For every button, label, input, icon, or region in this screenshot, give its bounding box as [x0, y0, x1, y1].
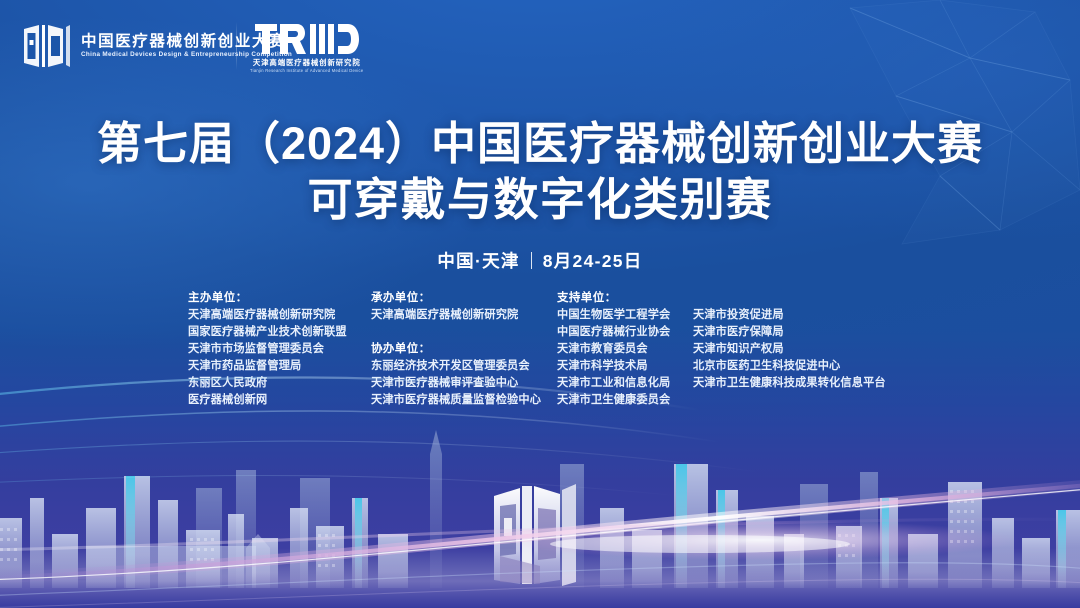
poster-title-line2: 可穿戴与数字化类别赛: [0, 174, 1080, 226]
org-item: 天津市知识产权局: [693, 341, 893, 358]
org-item: 天津市卫生健康委员会: [557, 392, 693, 409]
poster-header: 中国医疗器械创新创业大赛 China Medical Devices Desig…: [0, 0, 1080, 92]
org-item: 天津高端医疗器械创新研究院: [188, 307, 371, 324]
org-item: 天津市工业和信息化局: [557, 375, 693, 392]
organizers-column-support-continued: 天津市投资促进局 天津市医疗保障局 天津市知识产权局 北京市医药卫生科技促进中心…: [693, 290, 893, 392]
org-item: 北京市医药卫生科技促进中心: [693, 358, 893, 375]
trmd-wordmark-icon: [255, 22, 359, 56]
subtitle-date: 8月24-25日: [543, 248, 643, 273]
org-item: 天津市卫生健康科技成果转化信息平台: [693, 375, 893, 392]
org-item: 天津市药品监督管理局: [188, 358, 371, 375]
org-item: 医疗器械创新网: [188, 392, 371, 409]
cmde-logo: 中国医疗器械创新创业大赛 China Medical Devices Desig…: [22, 24, 288, 68]
org-item: 天津市医疗器械审评查验中心: [371, 375, 557, 392]
org-heading-coorganizer: 协办单位：: [371, 341, 557, 358]
org-item: 中国医疗器械行业协会: [557, 324, 693, 341]
org-heading-organizer: 承办单位：: [371, 290, 557, 307]
org-item: 天津市医疗保障局: [693, 324, 893, 341]
event-poster: 中国医疗器械创新创业大赛 China Medical Devices Desig…: [0, 0, 1080, 608]
org-item: 天津高端医疗器械创新研究院: [371, 307, 557, 324]
org-item: 天津市市场监督管理委员会: [188, 341, 371, 358]
trmd-logo-en: Tianjin Research Institute of Advanced M…: [250, 69, 363, 73]
org-item: 东丽经济技术开发区管理委员会: [371, 358, 557, 375]
org-heading-host: 主办单位：: [188, 290, 371, 307]
organizers-column-organizer: 承办单位： 天津高端医疗器械创新研究院 协办单位： 东丽经济技术开发区管理委员会…: [371, 290, 557, 409]
title-block: 第七届（2024）中国医疗器械创新创业大赛 可穿戴与数字化类别赛 中国·天津 8…: [0, 118, 1080, 273]
subtitle-line: 中国·天津 8月24-25日: [0, 248, 1080, 273]
logo-divider: [236, 22, 237, 70]
org-item: 国家医疗器械产业技术创新联盟: [188, 324, 371, 341]
org-item: 天津市教育委员会: [557, 341, 693, 358]
org-item: 天津市投资促进局: [693, 307, 893, 324]
subtitle-location: 中国·天津: [437, 248, 519, 273]
trmd-logo-cn: 天津高端医疗器械创新研究院: [253, 59, 361, 66]
trmd-logo: 天津高端医疗器械创新研究院 Tianjin Research Institute…: [250, 22, 363, 74]
subtitle-separator: [531, 252, 532, 269]
org-item: 东丽区人民政府: [188, 375, 371, 392]
open-door-logo-icon: [22, 24, 72, 68]
org-item: 天津市医疗器械质量监督检验中心: [371, 392, 557, 409]
org-heading-support: 支持单位：: [557, 290, 693, 307]
org-item: 天津市科学技术局: [557, 358, 693, 375]
organizers-column-support: 支持单位： 中国生物医学工程学会 中国医疗器械行业协会 天津市教育委员会 天津市…: [557, 290, 693, 409]
organizers-block: 主办单位： 天津高端医疗器械创新研究院 国家医疗器械产业技术创新联盟 天津市市场…: [188, 290, 928, 409]
organizers-column-host: 主办单位： 天津高端医疗器械创新研究院 国家医疗器械产业技术创新联盟 天津市市场…: [188, 290, 371, 409]
poster-title-line1: 第七届（2024）中国医疗器械创新创业大赛: [0, 118, 1080, 170]
central-door-landmark: [494, 484, 576, 586]
org-item: 中国生物医学工程学会: [557, 307, 693, 324]
org-spacer: [371, 324, 557, 341]
